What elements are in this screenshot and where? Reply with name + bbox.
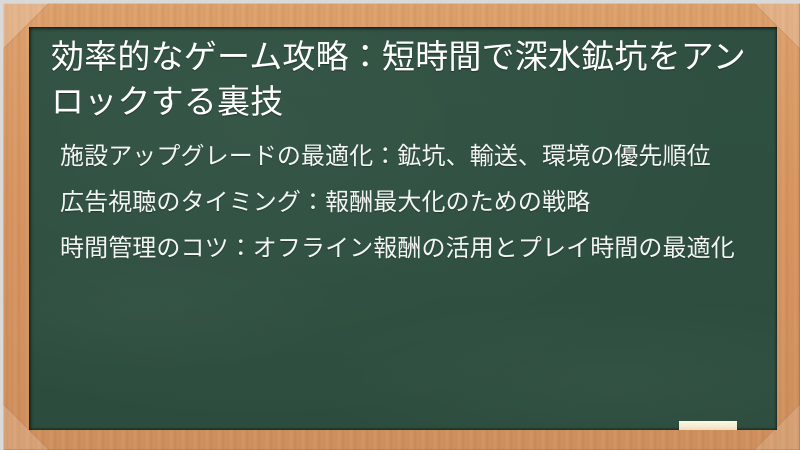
bullet-list: 施設アップグレードの最適化：鉱坑、輸送、環境の優先順位 広告視聴のタイミング：報…	[51, 139, 755, 265]
slide-title: 効率的なゲーム攻略：短時間で深水鉱坑をアンロックする裏技	[51, 35, 755, 125]
chalkboard-surface: 効率的なゲーム攻略：短時間で深水鉱坑をアンロックする裏技 施設アップグレードの最…	[29, 27, 777, 430]
slide-canvas: 効率的なゲーム攻略：短時間で深水鉱坑をアンロックする裏技 施設アップグレードの最…	[0, 0, 800, 450]
chalk-stick-icon	[679, 421, 737, 430]
slide-content: 効率的なゲーム攻略：短時間で深水鉱坑をアンロックする裏技 施設アップグレードの最…	[29, 27, 777, 430]
chalkboard-wooden-frame: 効率的なゲーム攻略：短時間で深水鉱坑をアンロックする裏技 施設アップグレードの最…	[3, 3, 800, 450]
list-item: 施設アップグレードの最適化：鉱坑、輸送、環境の優先順位	[51, 139, 755, 173]
list-item: 広告視聴のタイミング：報酬最大化のための戦略	[51, 185, 755, 219]
list-item: 時間管理のコツ：オフライン報酬の活用とプレイ時間の最適化	[51, 231, 755, 265]
